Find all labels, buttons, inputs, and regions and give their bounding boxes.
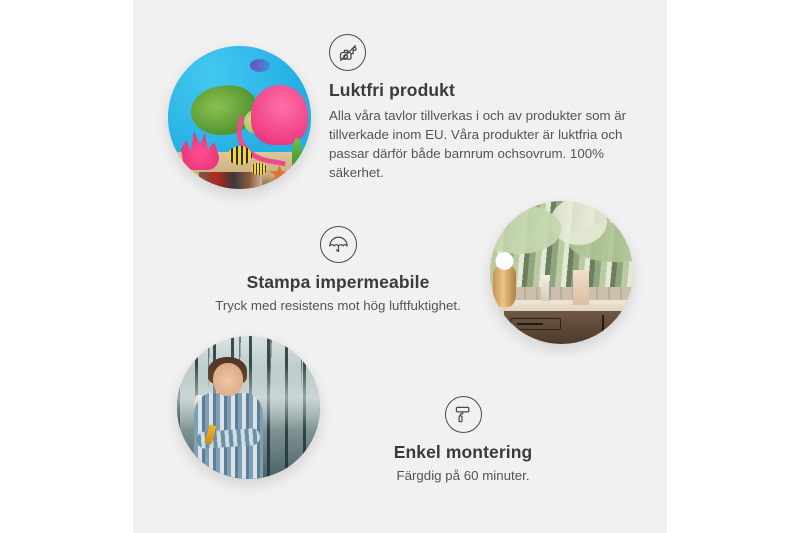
feature-waterproof-body: Tryck med resistens mot hög luftfuktighe… bbox=[193, 297, 483, 316]
bathroom-drawer-handle bbox=[517, 323, 543, 325]
feature-assembly-body: Färgdig på 60 minuter. bbox=[323, 467, 603, 486]
sea-fish-yellow-small bbox=[251, 163, 267, 174]
bathroom-white-flowers bbox=[490, 250, 519, 273]
feature-odorless-title: Luktfri produkt bbox=[329, 80, 629, 101]
bathroom-tropical-wallpaper-circle-photo bbox=[490, 201, 633, 344]
bathroom-door-handle bbox=[602, 315, 604, 338]
sea-fish-yellow bbox=[228, 146, 252, 165]
underwater-cartoon-circle-photo bbox=[168, 46, 311, 189]
screenshot-root: Luktfri produkt Alla våra tavlor tillver… bbox=[0, 0, 800, 533]
bathroom-towel bbox=[573, 270, 589, 306]
feature-odorless-body: Alla våra tavlor tillverkas i och av pro… bbox=[329, 107, 629, 183]
feature-waterproof: Stampa impermeabile Tryck med resistens … bbox=[193, 226, 483, 316]
bathroom-vase bbox=[493, 267, 516, 307]
feature-waterproof-title: Stampa impermeabile bbox=[193, 272, 483, 293]
sea-bottom-objects bbox=[199, 172, 262, 189]
feature-odorless: Luktfri produkt Alla våra tavlor tillver… bbox=[329, 34, 629, 183]
sea-fish-purple bbox=[250, 59, 270, 72]
umbrella-icon bbox=[320, 226, 357, 263]
woman-paint-roller-forest-circle-photo bbox=[177, 336, 320, 479]
woman-face bbox=[213, 363, 243, 396]
no-spray-bottle-icon bbox=[329, 34, 366, 71]
content-panel: Luktfri produkt Alla våra tavlor tillver… bbox=[133, 0, 667, 533]
bathroom-faucet bbox=[549, 281, 551, 300]
paint-roller-icon bbox=[445, 396, 482, 433]
feature-assembly: Enkel montering Färgdig på 60 minuter. bbox=[323, 396, 603, 486]
feature-assembly-title: Enkel montering bbox=[323, 442, 603, 463]
